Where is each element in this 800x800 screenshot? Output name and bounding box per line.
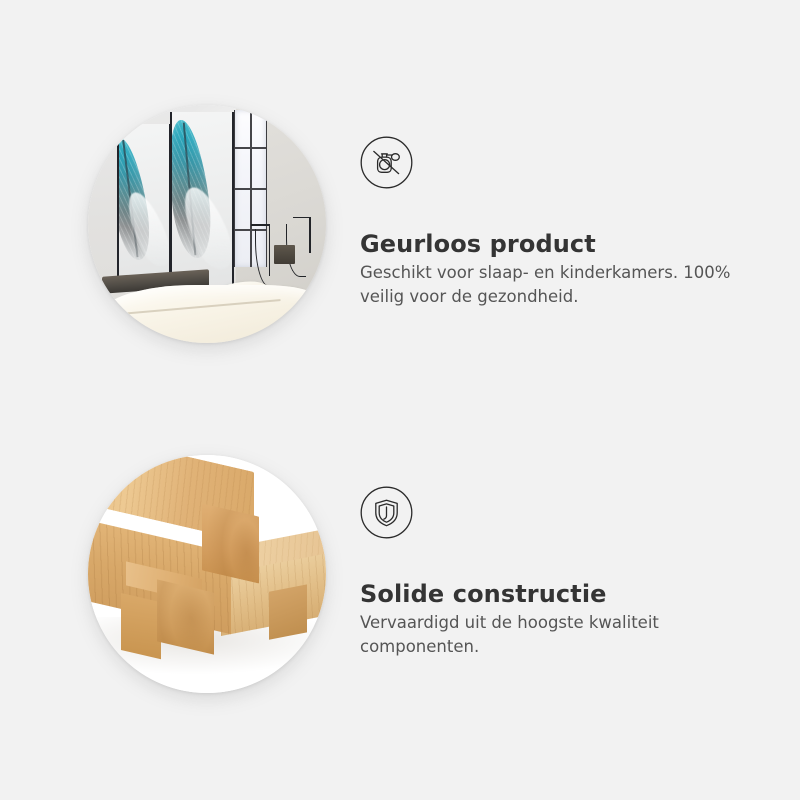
- wall-lamp-shade: [88, 105, 99, 113]
- wooden-beams-photo: [88, 455, 326, 693]
- nightstand: [274, 245, 295, 264]
- wall-lamp-stem: [309, 217, 311, 253]
- wooden-beam-front-end-grain: [157, 579, 214, 654]
- feather-art-panel-left: [117, 124, 171, 281]
- no-fragrance-icon: [360, 136, 413, 189]
- feature-title: Solide constructie: [360, 580, 760, 609]
- wooden-beam-right-end-grain: [269, 585, 307, 640]
- wall-lamp-arm: [251, 224, 270, 226]
- feature-title: Geurloos product: [360, 230, 760, 259]
- wooden-beam-front-side-face: [121, 593, 161, 659]
- feature-block-solide-constructie: Solide constructie Vervaardigd uit de ho…: [0, 400, 800, 750]
- feather-art-panel-center: [170, 112, 234, 286]
- shield-icon: [360, 486, 413, 539]
- wooden-beam-large-end-grain: [202, 503, 259, 583]
- feature-description: Vervaardigd uit de hoogste kwaliteit com…: [360, 611, 752, 660]
- bed: [102, 267, 326, 343]
- bedroom-feather-wall-art-photo: [88, 105, 326, 343]
- wooden-beams-scene: [88, 455, 326, 693]
- feature-image-wrapper: [88, 105, 326, 343]
- feature-description: Geschikt voor slaap- en kinderkamers. 10…: [360, 261, 752, 310]
- wall-lamp-arm: [293, 217, 311, 219]
- feature-block-geurloos-product: Geurloos product Geschikt voor slaap- en…: [0, 50, 800, 400]
- bedroom-scene: [88, 105, 326, 343]
- product-features-page: Geurloos product Geschikt voor slaap- en…: [0, 0, 800, 800]
- feature-image-wrapper: [88, 455, 326, 693]
- duvet: [102, 285, 326, 343]
